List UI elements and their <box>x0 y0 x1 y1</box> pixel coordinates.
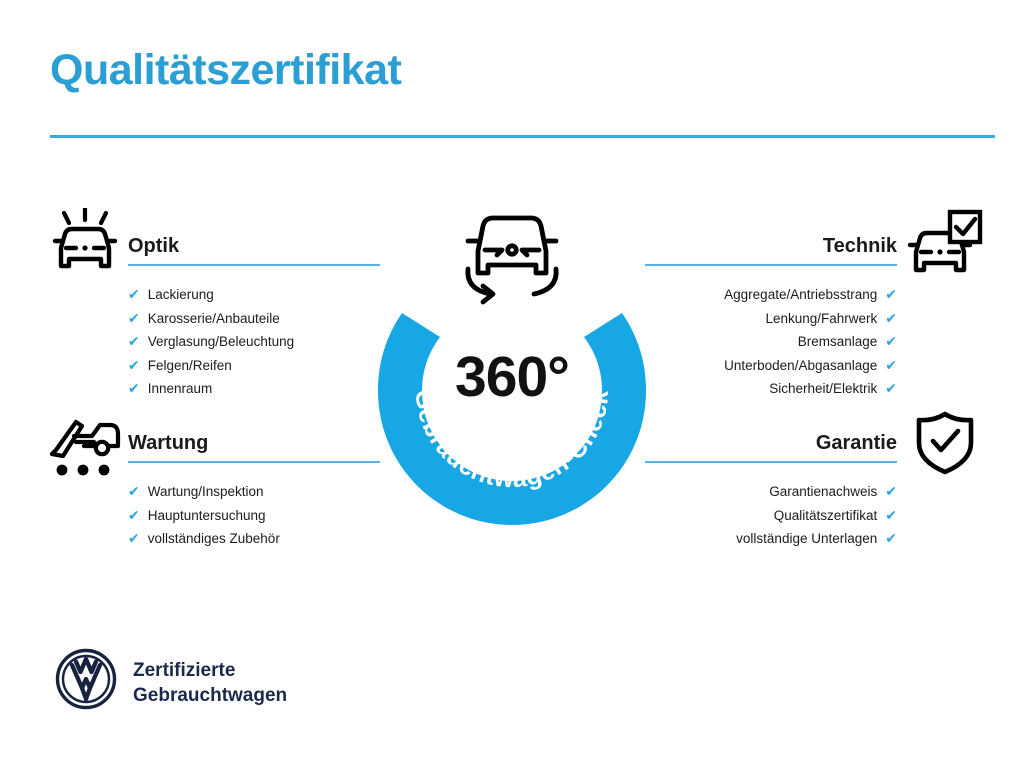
check-icon: ✔ <box>885 330 897 354</box>
list-item-label: Qualitätszertifikat <box>774 504 878 528</box>
check-icon: ✔ <box>885 377 897 401</box>
section-wartung: Wartung ✔Wartung/Inspektion ✔Hauptunters… <box>128 433 380 551</box>
list-item-label: Wartung/Inspektion <box>148 480 264 504</box>
list-item: ✔Innenraum <box>128 377 380 401</box>
list-item-label: Sicherheit/Elektrik <box>769 377 877 401</box>
check-icon: ✔ <box>128 377 140 401</box>
car-rotate-360-icon <box>452 193 572 305</box>
section-divider-technik <box>645 264 897 266</box>
shield-check-icon <box>912 410 978 476</box>
list-item-label: Hauptuntersuchung <box>148 504 266 528</box>
section-heading-garantie: Garantie <box>645 433 897 461</box>
checklist-optik: ✔Lackierung ✔Karosserie/Anbauteile ✔Verg… <box>128 283 380 401</box>
section-heading-technik: Technik <box>645 236 897 264</box>
check-icon: ✔ <box>885 527 897 551</box>
list-item-label: Aggregate/Antriebsstrang <box>724 283 877 307</box>
page-title: Qualitätszertifikat <box>50 47 401 94</box>
checklist-wartung: ✔Wartung/Inspektion ✔Hauptuntersuchung ✔… <box>128 480 380 551</box>
list-item: Qualitätszertifikat✔ <box>645 504 897 528</box>
car-on-lift-icon <box>46 412 124 478</box>
list-item: Lenkung/Fahrwerk✔ <box>645 307 897 331</box>
check-icon: ✔ <box>885 307 897 331</box>
list-item-label: Felgen/Reifen <box>148 354 232 378</box>
car-front-checkbox-icon <box>906 208 984 280</box>
quality-certificate-page: Qualitätszertifikat Optik ✔Lackierung <box>0 0 1024 768</box>
list-item: Aggregate/Antriebsstrang✔ <box>645 283 897 307</box>
list-item: ✔Hauptuntersuchung <box>128 504 380 528</box>
check-icon: ✔ <box>128 527 140 551</box>
section-garantie: Garantie Garantienachweis✔ Qualitätszert… <box>645 433 897 551</box>
check-icon: ✔ <box>128 330 140 354</box>
section-divider-optik <box>128 264 380 266</box>
list-item-label: Lackierung <box>148 283 214 307</box>
check-icon: ✔ <box>885 504 897 528</box>
list-item: ✔Lackierung <box>128 283 380 307</box>
list-item-label: Garantienachweis <box>769 480 877 504</box>
list-item: Bremsanlage✔ <box>645 330 897 354</box>
section-optik: Optik ✔Lackierung ✔Karosserie/Anbauteile… <box>128 236 380 401</box>
vw-claim-line1: Zertifizierte <box>133 658 287 683</box>
list-item: ✔Wartung/Inspektion <box>128 480 380 504</box>
checklist-garantie: Garantienachweis✔ Qualitätszertifikat✔ v… <box>645 480 897 551</box>
list-item: ✔Felgen/Reifen <box>128 354 380 378</box>
list-item-label: Karosserie/Anbauteile <box>148 307 280 331</box>
list-item: Unterboden/Abgasanlage✔ <box>645 354 897 378</box>
list-item-label: vollständiges Zubehör <box>148 527 280 551</box>
list-item-label: vollständige Unterlagen <box>736 527 877 551</box>
check-icon: ✔ <box>885 283 897 307</box>
list-item-label: Innenraum <box>148 377 213 401</box>
section-technik: Technik Aggregate/Antriebsstrang✔ Lenkun… <box>645 236 897 401</box>
list-item: Garantienachweis✔ <box>645 480 897 504</box>
section-divider-garantie <box>645 461 897 463</box>
check-icon: ✔ <box>128 307 140 331</box>
check-icon: ✔ <box>128 504 140 528</box>
checklist-technik: Aggregate/Antriebsstrang✔ Lenkung/Fahrwe… <box>645 283 897 401</box>
list-item: ✔Karosserie/Anbauteile <box>128 307 380 331</box>
list-item: ✔Verglasung/Beleuchtung <box>128 330 380 354</box>
list-item-label: Verglasung/Beleuchtung <box>148 330 294 354</box>
section-heading-optik: Optik <box>128 236 380 264</box>
list-item-label: Bremsanlage <box>798 330 878 354</box>
list-item: ✔vollständiges Zubehör <box>128 527 380 551</box>
list-item: vollständige Unterlagen✔ <box>645 527 897 551</box>
vw-claim-line2: Gebrauchtwagen <box>133 683 287 708</box>
check-icon: ✔ <box>128 283 140 307</box>
check-icon: ✔ <box>885 354 897 378</box>
check-icon: ✔ <box>128 354 140 378</box>
section-divider-wartung <box>128 461 380 463</box>
check-icon: ✔ <box>128 480 140 504</box>
list-item: Sicherheit/Elektrik✔ <box>645 377 897 401</box>
section-heading-wartung: Wartung <box>128 433 380 461</box>
check-icon: ✔ <box>885 480 897 504</box>
car-front-headlights-icon <box>46 208 124 280</box>
badge-number: 360° <box>378 349 646 406</box>
list-item-label: Lenkung/Fahrwerk <box>765 307 877 331</box>
vw-logo <box>55 648 117 710</box>
vw-claim: Zertifizierte Gebrauchtwagen <box>133 658 287 708</box>
list-item-label: Unterboden/Abgasanlage <box>724 354 877 378</box>
title-divider <box>50 135 995 138</box>
